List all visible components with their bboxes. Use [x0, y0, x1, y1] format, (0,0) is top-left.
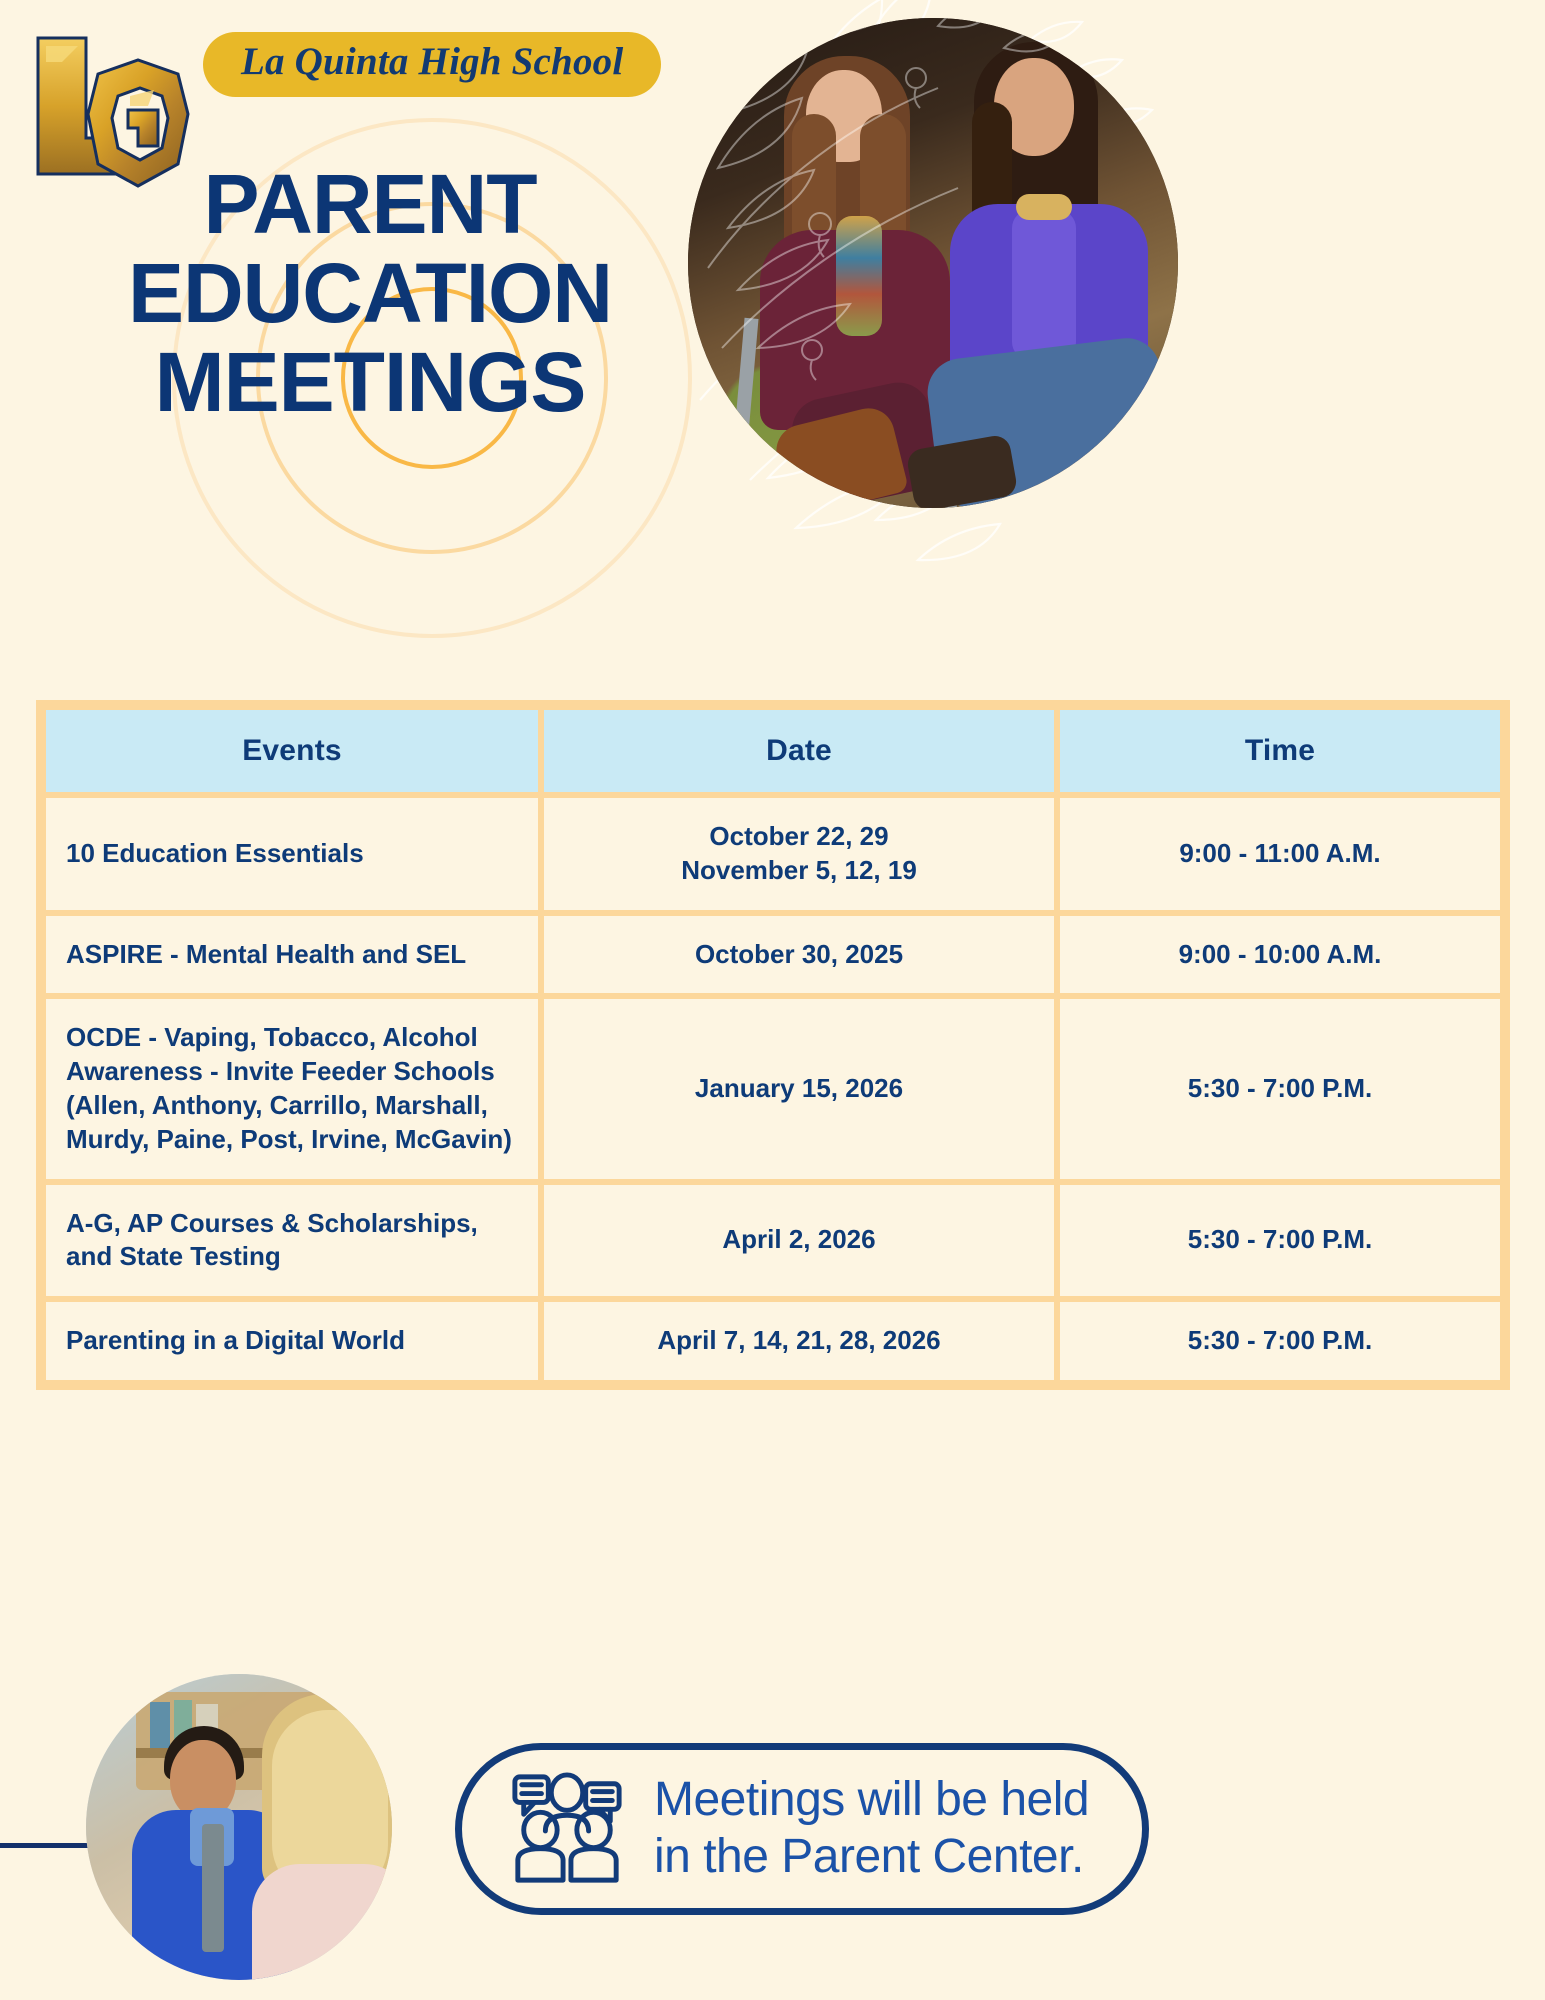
location-note-text: Meetings will be held in the Parent Cent…: [654, 1772, 1089, 1885]
event-date: October 30, 2025: [541, 913, 1057, 997]
event-name: 10 Education Essentials: [43, 795, 541, 913]
column-header-events: Events: [43, 707, 541, 795]
event-time: 5:30 - 7:00 P.M.: [1057, 1182, 1503, 1300]
table-row: Parenting in a Digital World April 7, 14…: [43, 1299, 1503, 1383]
schedule-table: Events Date Time 10 Education Essentials…: [36, 700, 1510, 1390]
event-name: OCDE - Vaping, Tobacco, Alcohol Awarenes…: [43, 996, 541, 1181]
event-date: October 22, 29 November 5, 12, 19: [541, 795, 1057, 913]
footer-photo: [86, 1674, 392, 1980]
table-row: ASPIRE - Mental Health and SEL October 3…: [43, 913, 1503, 997]
hero-photo: [688, 18, 1178, 508]
page-title-line-3: MEETINGS: [70, 338, 670, 427]
event-date: April 7, 14, 21, 28, 2026: [541, 1299, 1057, 1383]
school-name-badge: La Quinta High School: [203, 32, 661, 97]
poster-page: La Quinta High School PARENT EDUCATION M…: [0, 0, 1545, 2000]
schedule-table-head: Events Date Time: [43, 707, 1503, 795]
table-row: A-G, AP Courses & Scholarships, and Stat…: [43, 1182, 1503, 1300]
column-header-date: Date: [541, 707, 1057, 795]
page-title: PARENT EDUCATION MEETINGS: [70, 160, 670, 427]
page-title-line-2: EDUCATION: [70, 249, 670, 338]
event-date: April 2, 2026: [541, 1182, 1057, 1300]
event-name: ASPIRE - Mental Health and SEL: [43, 913, 541, 997]
event-name: A-G, AP Courses & Scholarships, and Stat…: [43, 1182, 541, 1300]
event-time: 9:00 - 10:00 A.M.: [1057, 913, 1503, 997]
table-header-row: Events Date Time: [43, 707, 1503, 795]
schedule-table-wrapper: Events Date Time 10 Education Essentials…: [36, 700, 1496, 1390]
event-time: 9:00 - 11:00 A.M.: [1057, 795, 1503, 913]
event-date: January 15, 2026: [541, 996, 1057, 1181]
photo-leaf-overlay: [688, 18, 1178, 508]
location-note-pill: Meetings will be held in the Parent Cent…: [455, 1743, 1149, 1915]
event-time: 5:30 - 7:00 P.M.: [1057, 1299, 1503, 1383]
group-discussion-icon: [508, 1770, 626, 1888]
event-time: 5:30 - 7:00 P.M.: [1057, 996, 1503, 1181]
page-title-line-1: PARENT: [70, 160, 670, 249]
schedule-table-body: 10 Education Essentials October 22, 29 N…: [43, 795, 1503, 1383]
event-name: Parenting in a Digital World: [43, 1299, 541, 1383]
table-row: OCDE - Vaping, Tobacco, Alcohol Awarenes…: [43, 996, 1503, 1181]
column-header-time: Time: [1057, 707, 1503, 795]
table-row: 10 Education Essentials October 22, 29 N…: [43, 795, 1503, 913]
